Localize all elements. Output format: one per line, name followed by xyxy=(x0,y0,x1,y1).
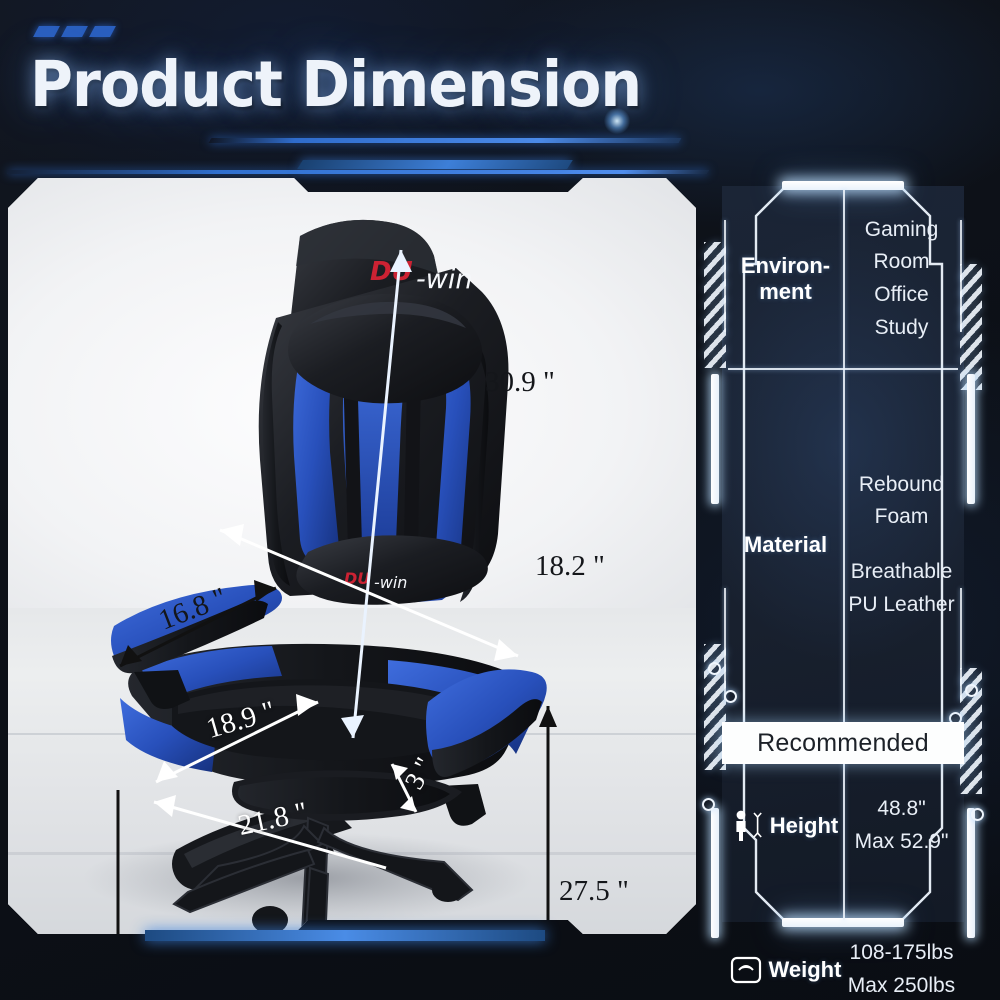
material-value-2: Foam xyxy=(848,501,954,534)
frame-pipe-left-lower xyxy=(711,808,719,938)
spec-row-material-label: Material xyxy=(728,370,843,720)
material-label: Material xyxy=(744,532,827,558)
header-accent-line-bottom xyxy=(7,170,709,174)
frame-node-3 xyxy=(965,684,978,697)
environment-value-3: Study xyxy=(845,312,958,345)
height-value-line2: Max 52.9" xyxy=(855,826,949,859)
frame-pipe-left-upper xyxy=(711,374,719,504)
height-value-line1: 48.8" xyxy=(855,793,949,826)
material-value-4: PU Leather xyxy=(848,589,954,622)
recommended-banner: Recommended xyxy=(722,722,964,764)
spec-row-height-label: Height xyxy=(728,766,843,886)
svg-text:-win: -win xyxy=(416,264,472,295)
gaming-chair-photo: DU -win xyxy=(8,178,696,938)
environment-label-line1: Environ- xyxy=(741,253,830,279)
photo-accent-bar-bottom xyxy=(145,930,545,941)
page-title: Product Dimension xyxy=(30,48,641,121)
weight-value-line1: 108-175lbs xyxy=(848,937,955,970)
spec-row-environment-values: Gaming Room Office Study xyxy=(845,190,958,368)
weight-scale-icon xyxy=(730,955,762,985)
spec-row-environment-label: Environ- ment xyxy=(728,190,843,368)
slant-dash-icon xyxy=(36,26,113,37)
photo-accent-bar-top xyxy=(297,160,573,169)
svg-text:-win: -win xyxy=(374,573,407,592)
infographic-root: Product Dimension xyxy=(0,0,1000,1000)
weight-label: Weight xyxy=(769,957,842,983)
person-height-icon xyxy=(733,809,763,843)
weight-value-line2: Max 250lbs xyxy=(848,970,955,1000)
spec-row-height-values: 48.8" Max 52.9" xyxy=(845,766,958,886)
dimension-label-backrest-height: 30.9 " xyxy=(485,366,555,399)
environment-label-line2: ment xyxy=(741,279,830,305)
frame-tick-left-upper xyxy=(724,220,726,332)
frame-node-5 xyxy=(702,798,715,811)
frame-pipe-right-lower xyxy=(967,808,975,938)
frame-bar-top xyxy=(782,181,904,190)
title-glow-accent xyxy=(604,108,630,134)
spec-row-material-values: Rebound Foam Breathable PU Leather xyxy=(845,370,958,720)
dimension-label-backrest-width: 18.2 " xyxy=(535,550,605,583)
frame-node-6 xyxy=(971,808,984,821)
height-label: Height xyxy=(770,813,838,839)
frame-tick-right-lower xyxy=(960,588,962,700)
hatch-ornament-left-upper xyxy=(704,242,726,368)
frame-tick-right-upper xyxy=(960,220,962,332)
environment-value-1: Gaming Room xyxy=(845,214,958,279)
frame-node-1 xyxy=(708,662,721,675)
header-accent-line-top xyxy=(209,138,682,143)
spec-panel: Environ- ment Gaming Room Office Study M… xyxy=(694,168,992,940)
dimension-label-backrest-total: 27.5 " xyxy=(559,875,629,908)
material-value-3: Breathable xyxy=(848,556,954,589)
hatch-ornament-right-upper xyxy=(960,264,982,390)
spec-row-weight-label: Weight xyxy=(728,910,843,1000)
frame-tick-left-lower xyxy=(724,588,726,700)
spec-row-weight-values: 108-175lbs Max 250lbs xyxy=(845,910,958,1000)
environment-value-2: Office xyxy=(845,279,958,312)
frame-pipe-right-upper xyxy=(967,374,975,504)
material-value-1: Rebound xyxy=(848,469,954,502)
